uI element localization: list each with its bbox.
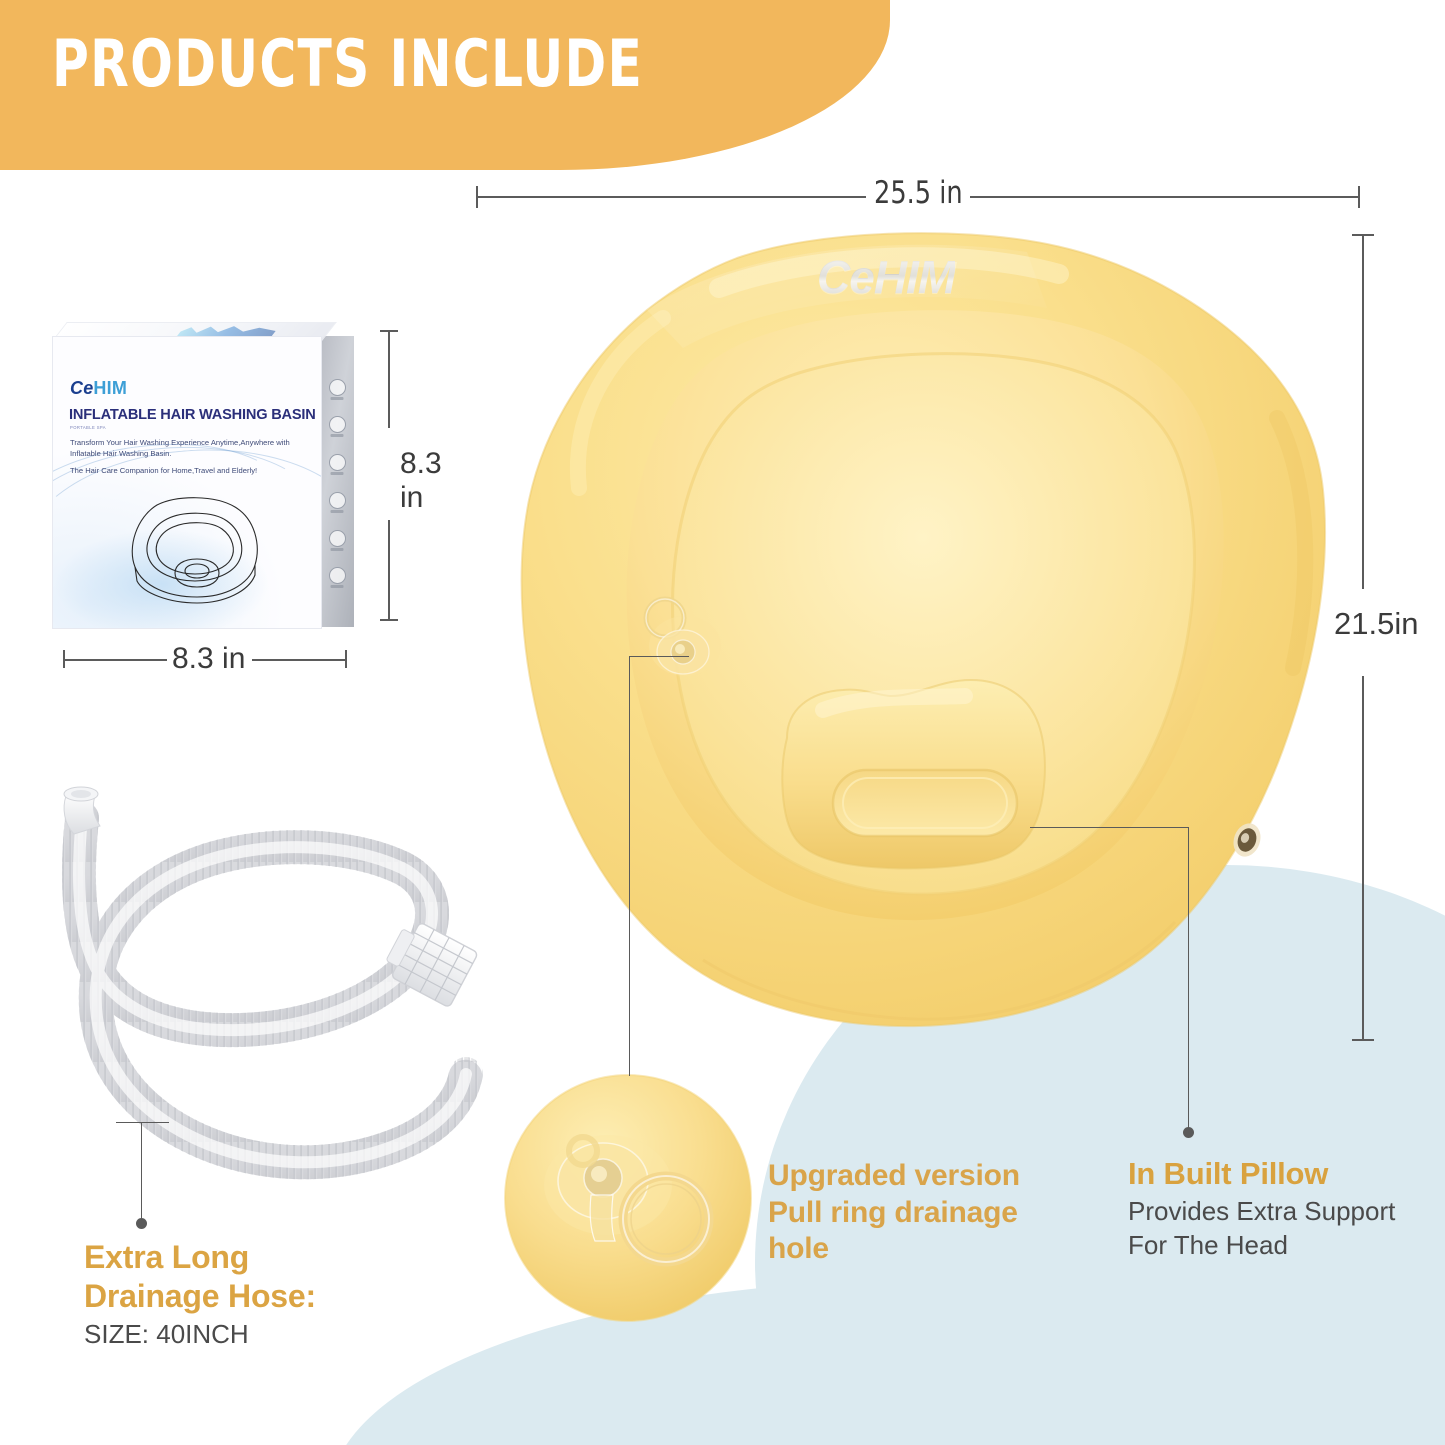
dimension-line-segment <box>63 659 167 661</box>
box-product-subtitle: PORTABLE SPA <box>70 425 106 430</box>
dimension-cap <box>380 619 398 621</box>
basin-height-dimension: 21.5in <box>1340 228 1445 1048</box>
drainage-hose-image <box>22 782 502 1202</box>
leader-line-pillow-horizontal <box>1030 827 1189 828</box>
box-side-panel <box>320 336 354 627</box>
leader-line-hose-horizontal <box>116 1122 169 1123</box>
leader-dot-pillow <box>1183 1127 1194 1138</box>
box-brand-logo: CeHIM <box>70 379 127 397</box>
feature-icon <box>329 492 346 509</box>
infographic-canvas: PRODUCTS INCLUDE CeHIM INFLATABLE H <box>0 0 1445 1445</box>
dimension-line-segment <box>388 520 390 620</box>
leader-dot-hose <box>136 1218 147 1229</box>
leader-line-drain-horizontal <box>629 656 689 657</box>
callout-drainage-hose: Extra Long Drainage Hose: SIZE: 40INCH <box>84 1238 414 1350</box>
box-width-label: 8.3 in <box>172 642 245 676</box>
callout-drain-title-line1: Upgraded version <box>768 1158 1068 1195</box>
box-side-icon-list <box>320 336 354 627</box>
box-front-panel: CeHIM INFLATABLE HAIR WASHING BASIN PORT… <box>52 336 322 629</box>
callout-drain-title-line2: Pull ring drainage <box>768 1195 1068 1232</box>
box-height-label: 8.3 in <box>400 447 468 515</box>
box-product-title: INFLATABLE HAIR WASHING BASIN <box>69 407 309 423</box>
callout-pillow-subtitle-line2: For The Head <box>1128 1229 1428 1261</box>
dimension-line-segment <box>1362 676 1364 1040</box>
brand-suffix: HIM <box>93 378 127 398</box>
callout-pull-ring-drain: Upgraded version Pull ring drainage hole <box>768 1158 1068 1268</box>
leader-line-pillow-vertical <box>1188 827 1189 1132</box>
box-description-line: Transform Your Hair Washing Experience A… <box>70 437 305 459</box>
dimension-line-segment <box>1362 234 1364 589</box>
callout-pillow-subtitle-line1: Provides Extra Support <box>1128 1195 1428 1227</box>
dimension-line-segment <box>252 659 346 661</box>
callout-hose-title-line1: Extra Long <box>84 1238 414 1277</box>
basin-height-label: 21.5in <box>1334 606 1418 642</box>
callout-drain-title-line3: hole <box>768 1231 1068 1268</box>
feature-icon <box>329 530 346 547</box>
product-box-image: CeHIM INFLATABLE HAIR WASHING BASIN PORT… <box>52 322 352 627</box>
brand-prefix: Ce <box>70 378 93 398</box>
callout-pillow-title: In Built Pillow <box>1128 1155 1428 1193</box>
dimension-line-segment <box>388 330 390 428</box>
dimension-line-segment <box>970 196 1358 198</box>
drain-detail-closeup <box>503 1073 753 1323</box>
callout-hose-subtitle: SIZE: 40INCH <box>84 1318 414 1350</box>
dimension-cap <box>345 650 347 668</box>
callout-built-in-pillow: In Built Pillow Provides Extra Support F… <box>1128 1155 1428 1261</box>
feature-icon <box>329 454 346 471</box>
inflatable-basin-image: CeHIM <box>487 218 1362 1058</box>
leader-line-hose-vertical <box>141 1122 142 1222</box>
dimension-line-segment <box>476 196 866 198</box>
dimension-cap <box>1358 186 1360 208</box>
leader-line-drain-vertical <box>629 656 630 1076</box>
feature-icon <box>329 567 346 584</box>
feature-icon <box>329 379 346 396</box>
box-width-dimension: 8.3 in <box>57 640 352 680</box>
box-basin-line-drawing <box>115 489 275 609</box>
page-title: PRODUCTS INCLUDE <box>52 27 643 102</box>
basin-width-label: 25.5 in <box>874 175 963 211</box>
box-top-wave-graphic <box>177 325 281 336</box>
dimension-cap <box>1352 1039 1374 1041</box>
box-description: Transform Your Hair Washing Experience A… <box>70 437 305 482</box>
box-height-dimension: 8.3 in <box>378 322 468 630</box>
callout-hose-title-line2: Drainage Hose: <box>84 1277 414 1316</box>
feature-icon <box>329 416 346 433</box>
basin-width-dimension: 25.5 in <box>470 175 1370 219</box>
box-description-line: The Hair Care Companion for Home,Travel … <box>70 465 305 476</box>
basin-brand-logo: CeHIM <box>817 250 955 304</box>
